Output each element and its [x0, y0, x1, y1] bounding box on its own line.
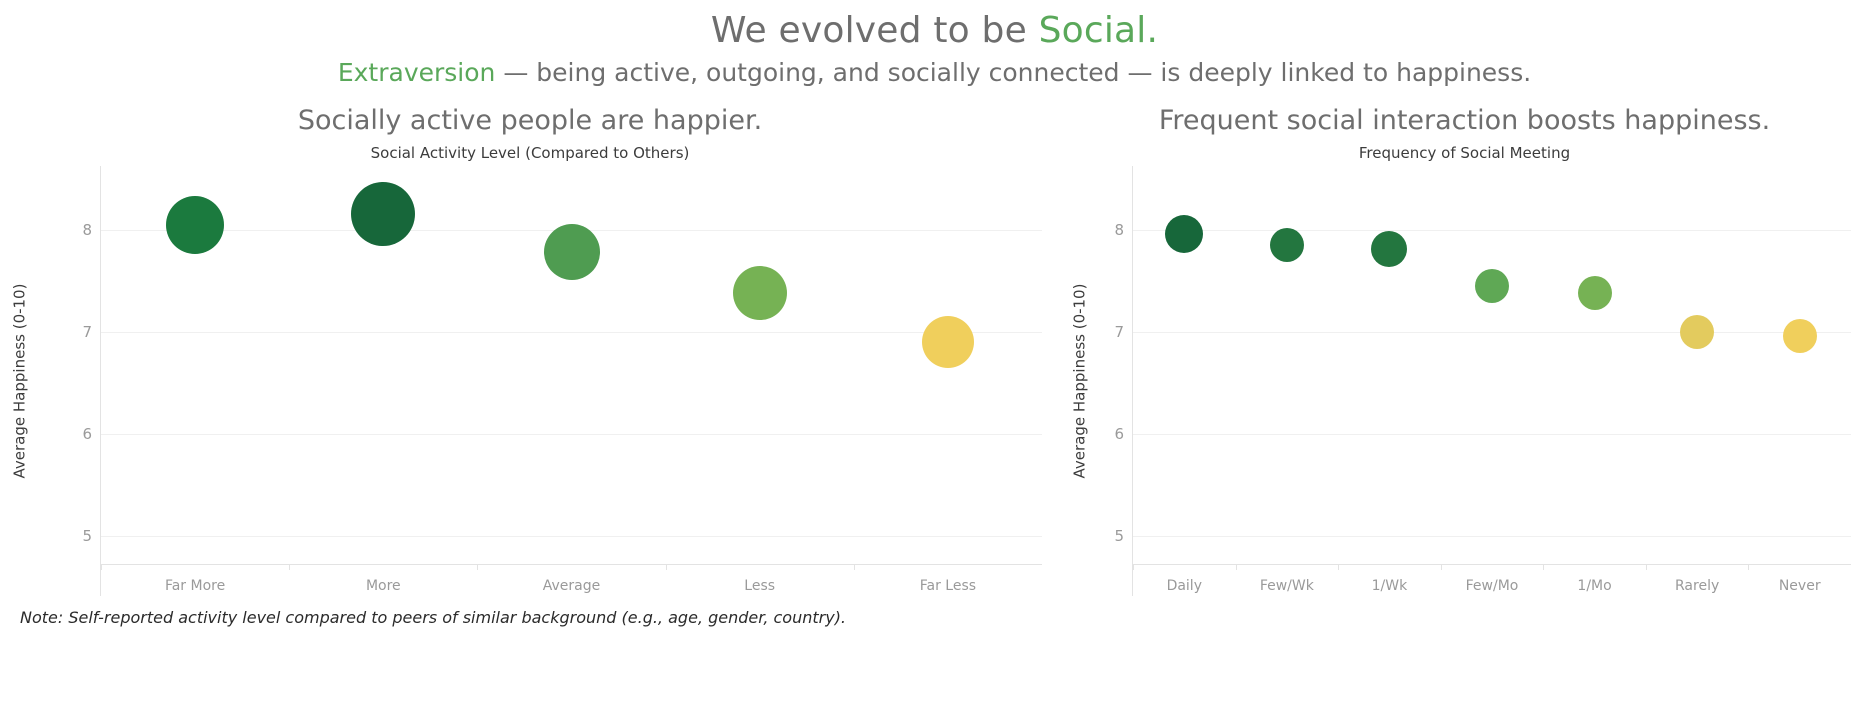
- data-point-bubble[interactable]: [1475, 269, 1509, 303]
- y-axis-tick: 6: [1114, 425, 1124, 443]
- x-axis-tick-mark: [477, 564, 478, 570]
- y-axis-tick: 7: [1114, 323, 1124, 341]
- plot-area-left: Average Happiness (0-10) 8765Far MoreMor…: [0, 166, 1060, 596]
- gridline: [1133, 536, 1851, 537]
- x-axis-tick-label: Far More: [165, 578, 225, 594]
- plot-area-right: Average Happiness (0-10) 8765DailyFew/Wk…: [1060, 166, 1869, 596]
- y-axis-label-left-text: Average Happiness (0-10): [10, 284, 28, 479]
- page-header: We evolved to be Social. Extraversion — …: [0, 0, 1869, 88]
- data-point-bubble[interactable]: [1680, 315, 1714, 349]
- plot-canvas-left: 8765Far MoreMoreAverageLessFar Less: [100, 166, 1042, 596]
- page-subtitle-rest: — being active, outgoing, and socially c…: [495, 58, 1531, 87]
- data-point-bubble[interactable]: [1783, 319, 1817, 353]
- x-axis-tick-mark: [1441, 564, 1442, 570]
- x-axis-tick-label: 1/Mo: [1577, 578, 1611, 594]
- data-point-bubble[interactable]: [733, 266, 787, 320]
- data-point-bubble[interactable]: [922, 316, 974, 368]
- x-axis-tick-mark: [1236, 564, 1237, 570]
- x-axis-tick-label: Less: [744, 578, 775, 594]
- data-point-bubble[interactable]: [1270, 228, 1304, 262]
- x-axis-line: [1133, 564, 1851, 565]
- gridline: [1133, 332, 1851, 333]
- y-axis-label-left: Average Happiness (0-10): [6, 166, 32, 596]
- x-axis-tick-label: Few/Mo: [1466, 578, 1519, 594]
- y-axis-tick: 5: [82, 527, 92, 545]
- x-axis-tick-mark: [1338, 564, 1339, 570]
- x-axis-tick-mark: [1748, 564, 1749, 570]
- chart-panel-social-frequency: Frequent social interaction boosts happi…: [1060, 102, 1869, 612]
- x-axis-tick-mark: [289, 564, 290, 570]
- x-axis-tick-label: 1/Wk: [1372, 578, 1408, 594]
- x-axis-tick-label: Rarely: [1675, 578, 1719, 594]
- page-subtitle: Extraversion — being active, outgoing, a…: [0, 58, 1869, 88]
- chart-axis-caption-left: Social Activity Level (Compared to Other…: [0, 140, 1060, 166]
- page-subtitle-accent: Extraversion: [338, 58, 496, 87]
- data-point-bubble[interactable]: [1371, 231, 1407, 267]
- data-point-bubble[interactable]: [351, 182, 415, 246]
- x-axis-tick-mark: [1646, 564, 1647, 570]
- x-axis-line: [101, 564, 1042, 565]
- x-axis-tick-label: Never: [1779, 578, 1821, 594]
- data-point-bubble[interactable]: [544, 224, 600, 280]
- gridline: [101, 536, 1042, 537]
- x-axis-tick-mark: [101, 564, 102, 570]
- x-axis-tick-mark: [854, 564, 855, 570]
- y-axis-tick: 7: [82, 323, 92, 341]
- x-axis-tick-label: Average: [543, 578, 601, 594]
- gridline: [1133, 434, 1851, 435]
- page-title-accent: Social.: [1039, 10, 1159, 51]
- x-axis-tick-label: More: [366, 578, 401, 594]
- chart-title-right: Frequent social interaction boosts happi…: [1060, 102, 1869, 140]
- y-axis-label-right-text: Average Happiness (0-10): [1070, 284, 1088, 479]
- gridline: [101, 332, 1042, 333]
- chart-axis-caption-right: Frequency of Social Meeting: [1060, 140, 1869, 166]
- y-axis-tick: 8: [82, 221, 92, 239]
- x-axis-tick-label: Few/Wk: [1260, 578, 1314, 594]
- footnote: Note: Self-reported activity level compa…: [20, 608, 846, 627]
- chart-title-left: Socially active people are happier.: [0, 102, 1060, 140]
- gridline: [101, 434, 1042, 435]
- y-axis-tick: 6: [82, 425, 92, 443]
- y-axis-tick: 8: [1114, 221, 1124, 239]
- data-point-bubble[interactable]: [1165, 215, 1203, 253]
- x-axis-tick-label: Daily: [1167, 578, 1202, 594]
- x-axis-tick-label: Far Less: [920, 578, 976, 594]
- x-axis-tick-mark: [1543, 564, 1544, 570]
- gridline: [1133, 230, 1851, 231]
- chart-panel-social-activity: Socially active people are happier. Soci…: [0, 102, 1060, 612]
- data-point-bubble[interactable]: [1578, 276, 1612, 310]
- charts-container: Socially active people are happier. Soci…: [0, 102, 1869, 612]
- page-title: We evolved to be Social.: [0, 10, 1869, 51]
- x-axis-tick-mark: [1133, 564, 1134, 570]
- data-point-bubble[interactable]: [166, 196, 224, 254]
- x-axis-tick-mark: [666, 564, 667, 570]
- y-axis-label-right: Average Happiness (0-10): [1066, 166, 1092, 596]
- plot-canvas-right: 8765DailyFew/Wk1/WkFew/Mo1/MoRarelyNever: [1132, 166, 1851, 596]
- page-title-plain: We evolved to be: [711, 10, 1039, 51]
- y-axis-tick: 5: [1114, 527, 1124, 545]
